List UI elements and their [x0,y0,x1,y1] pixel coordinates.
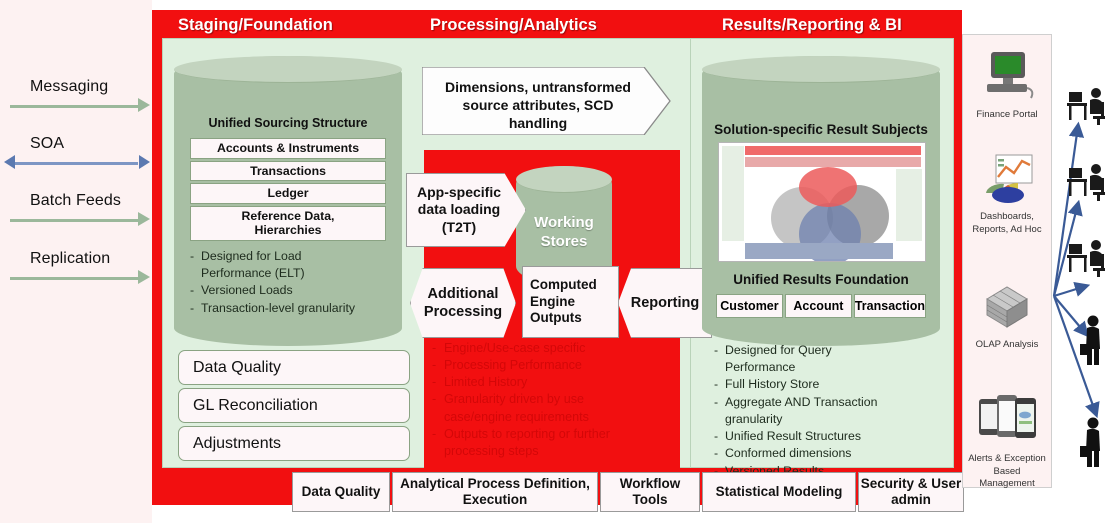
box-data-quality[interactable]: Data Quality [178,350,410,385]
arrow-head-right [138,270,150,284]
input-arrow-soa: SOA [8,135,148,189]
dimensions-callout: Dimensions, untransformed source attribu… [422,67,672,135]
actor-person-at-desk [1066,238,1110,283]
foundation-cell-customer: Customer [716,294,783,318]
unified-sourcing-cylinder: Unified Sourcing Structure Accounts & In… [174,56,402,346]
thumb-venn-circle-red [799,167,857,207]
consumer-olap[interactable]: OLAP Analysis [963,283,1051,352]
arrow-shaft [10,277,138,280]
mobile-devices-icon [975,387,1039,445]
arrow-head-right [139,155,150,169]
box-gl-reconciliation[interactable]: GL Reconciliation [178,388,410,423]
end-users-panel [1052,34,1114,486]
bullet: Conformed dimensions [712,445,947,461]
bullet: Full History Store [712,376,947,392]
stack-item: Ledger [190,183,386,204]
architecture-frame: Staging/Foundation Processing/Analytics … [152,10,962,505]
consumer-label: OLAP Analysis [963,339,1051,352]
thumb-bottom-band [745,243,893,259]
bullet-continuation: processing steps [430,443,670,460]
input-arrow-messaging: Messaging [8,78,148,132]
input-label: Messaging [30,78,108,96]
bullet: Limited History [430,374,670,391]
consumer-channels-panel: Finance Portal Dashboards, Reports, Ad H… [962,34,1052,488]
stack-item: Reference Data, Hierarchies [190,206,386,241]
bullet: Granularity driven by use [430,391,670,408]
results-bullets: Designed for Query Performance Full Hist… [712,342,947,480]
input-arrow-replication: Replication [8,250,148,304]
arrow-head-right [138,212,150,226]
slide-thumbnail-image [718,142,926,262]
thumb-subtitle-bar [745,157,921,167]
foundation-cell-transaction: Transaction [854,294,926,318]
section-header-staging: Staging/Foundation [178,16,333,35]
input-arrow-batch-feeds: Batch Feeds [8,192,148,246]
consumer-label: Alerts & Exception Based Management [963,453,1051,491]
input-label: SOA [30,135,64,153]
capability-data-quality[interactable]: Data Quality [292,472,390,512]
bullet: Versioned Loads [188,282,396,298]
actor-standing-person [1078,314,1108,373]
standing-person-icon [1078,314,1108,368]
section-header-processing: Processing/Analytics [430,16,597,35]
bullet: Aggregate AND Transaction [712,394,947,410]
bullet: Unified Result Structures [712,428,947,444]
chevron-additional-processing: Additional Processing [410,268,516,338]
bullet: Processing Performance [430,357,670,374]
consumer-label: Finance Portal [963,109,1051,122]
bullet: Engine/Use-case specific [430,340,670,357]
person-at-desk-icon [1066,162,1110,202]
bullet-continuation: case/engine requirements [430,409,670,426]
bullet-continuation: Performance (ELT) [188,265,396,281]
arrow-head-left [4,155,15,169]
foundation-cell-account: Account [785,294,852,318]
capability-security-user-admin[interactable]: Security & User admin [858,472,964,512]
foundation-cells: Customer Account Transaction [716,294,926,318]
section-header-results: Results/Reporting & BI [722,16,902,35]
input-label: Replication [30,250,110,268]
bullet: Designed for Load [188,248,396,264]
actor-standing-person [1078,416,1108,475]
cylinder-title: Working Stores [516,214,612,252]
stack-item: Transactions [190,161,386,182]
standing-person-icon [1078,416,1108,470]
input-label: Batch Feeds [30,192,121,210]
capability-analytical-process[interactable]: Analytical Process Definition, Execution [392,472,598,512]
consumer-alerts[interactable]: Alerts & Exception Based Management [963,387,1051,491]
arrow-shaft [10,219,138,222]
actor-person-at-desk [1066,86,1110,131]
capability-workflow-tools[interactable]: Workflow Tools [600,472,700,512]
capability-statistical-modeling[interactable]: Statistical Modeling [702,472,856,512]
staging-bullets: Designed for Load Performance (ELT) Vers… [188,248,396,317]
bullet: Outputs to reporting or further [430,426,670,443]
charts-icon [976,153,1038,203]
box-adjustments[interactable]: Adjustments [178,426,410,461]
chevron-reporting: Reporting [618,268,712,338]
actor-person-at-desk [1066,162,1110,207]
consumer-finance-portal[interactable]: Finance Portal [963,49,1051,122]
thumb-right-column [896,169,922,241]
cylinder-title: Solution-specific Result Subjects [702,122,940,137]
processing-bullets: Engine/Use-case specific Processing Perf… [430,340,670,460]
arrow-shaft [10,105,138,108]
thumb-title-bar [745,146,921,155]
consumer-label: Dashboards, Reports, Ad Hoc [963,211,1051,236]
arrow-head-right [138,98,150,112]
callout-text: Dimensions, untransformed source attribu… [432,79,644,133]
thumb-left-column [722,146,744,241]
bullet-continuation: granularity [712,411,947,427]
cube-icon [979,283,1035,331]
bullet: Designed for Query [712,342,947,358]
chevron-app-specific-loading: App-specific data loading (T2T) [406,173,526,247]
sourcing-subject-stack: Accounts & Instruments Transactions Ledg… [190,138,386,243]
desktop-computer-icon [979,49,1035,101]
unified-results-foundation-title: Unified Results Foundation [702,272,940,287]
person-at-desk-icon [1066,238,1110,278]
bullet-continuation: Performance [712,359,947,375]
result-subjects-cylinder: Solution-specific Result Subjects Unifie… [702,56,940,346]
box-computed-engine-outputs: Computed Engine Outputs [522,266,619,338]
arrow-shaft [10,162,138,165]
cylinder-title: Unified Sourcing Structure [174,116,402,130]
consumer-dashboards[interactable]: Dashboards, Reports, Ad Hoc [963,153,1051,236]
person-at-desk-icon [1066,86,1110,126]
input-channels-panel: Messaging SOA Batch Feeds Replication [0,0,152,523]
bullet: Transaction-level granularity [188,300,396,316]
stack-item: Accounts & Instruments [190,138,386,159]
